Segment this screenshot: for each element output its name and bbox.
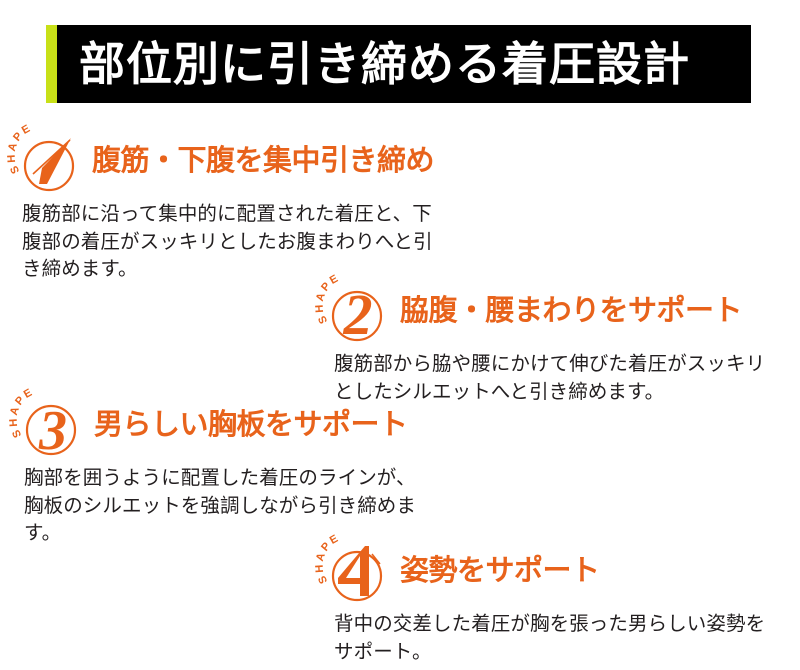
feature-title-1: 腹筋・下腹を集中引き締め	[92, 147, 434, 176]
feature-heading-4: SHAPE 姿勢をサポート	[322, 538, 792, 604]
feature-section-4: SHAPE 姿勢をサポート 背中の交差した着圧が胸を張った男らしい姿勢をサポート…	[322, 538, 792, 666]
feature-body-text-3: 胸部を囲うように配置した着圧のラインが、胸板のシルエットを強調しながら引き締めま…	[24, 465, 424, 548]
feature-body-text-4: 背中の交差した着圧が胸を張った男らしい姿勢をサポート。	[334, 611, 774, 666]
feature-heading-3: SHAPE 3 男らしい胸板をサポート	[16, 392, 486, 458]
feature-section-2: SHAPE 2 脇腹・腰まわりをサポート 腹筋部から脇や腰にかけて伸びた着圧がス…	[322, 278, 792, 406]
page-title: 部位別に引き締める着圧設計	[79, 41, 690, 87]
feature-title-4: 姿勢をサポート	[400, 557, 600, 586]
svg-text:3: 3	[38, 400, 67, 462]
feature-body-text-1: 腹筋部に沿って集中的に配置された着圧と、下腹部の着圧がスッキリとしたお腹まわりへ…	[22, 201, 442, 284]
feature-title-3: 男らしい胸板をサポート	[94, 411, 408, 440]
feature-body-3: 胸部を囲うように配置した着圧のラインが、胸板のシルエットを強調しながら引き締めま…	[24, 465, 424, 548]
shape-badge-3-icon: SHAPE 3	[16, 392, 88, 458]
feature-section-3: SHAPE 3 男らしい胸板をサポート 胸部を囲うように配置した着圧のラインが、…	[16, 392, 486, 548]
header-banner-body: 部位別に引き締める着圧設計	[57, 25, 751, 103]
shape-badge-1-icon: SHAPE	[14, 128, 86, 194]
shape-badge-2-icon: SHAPE 2	[322, 278, 394, 344]
feature-body-1: 腹筋部に沿って集中的に配置された着圧と、下腹部の着圧がスッキリとしたお腹まわりへ…	[22, 201, 442, 284]
feature-section-1: SHAPE 腹筋・下腹を集中引き締め 腹筋部に沿って集中的に配置された着圧と、下…	[14, 128, 484, 284]
header-accent-bar	[46, 25, 57, 103]
feature-title-2: 脇腹・腰まわりをサポート	[400, 297, 742, 326]
shape-badge-4-icon: SHAPE	[322, 538, 394, 604]
svg-text:2: 2	[343, 282, 373, 347]
feature-body-4: 背中の交差した着圧が胸を張った男らしい姿勢をサポート。	[334, 611, 774, 666]
feature-heading-2: SHAPE 2 脇腹・腰まわりをサポート	[322, 278, 792, 344]
header-banner: 部位別に引き締める着圧設計	[46, 25, 751, 103]
svg-text:SHAPE: SHAPE	[7, 386, 36, 440]
feature-heading-1: SHAPE 腹筋・下腹を集中引き締め	[14, 128, 484, 194]
svg-text:SHAPE: SHAPE	[5, 122, 34, 176]
